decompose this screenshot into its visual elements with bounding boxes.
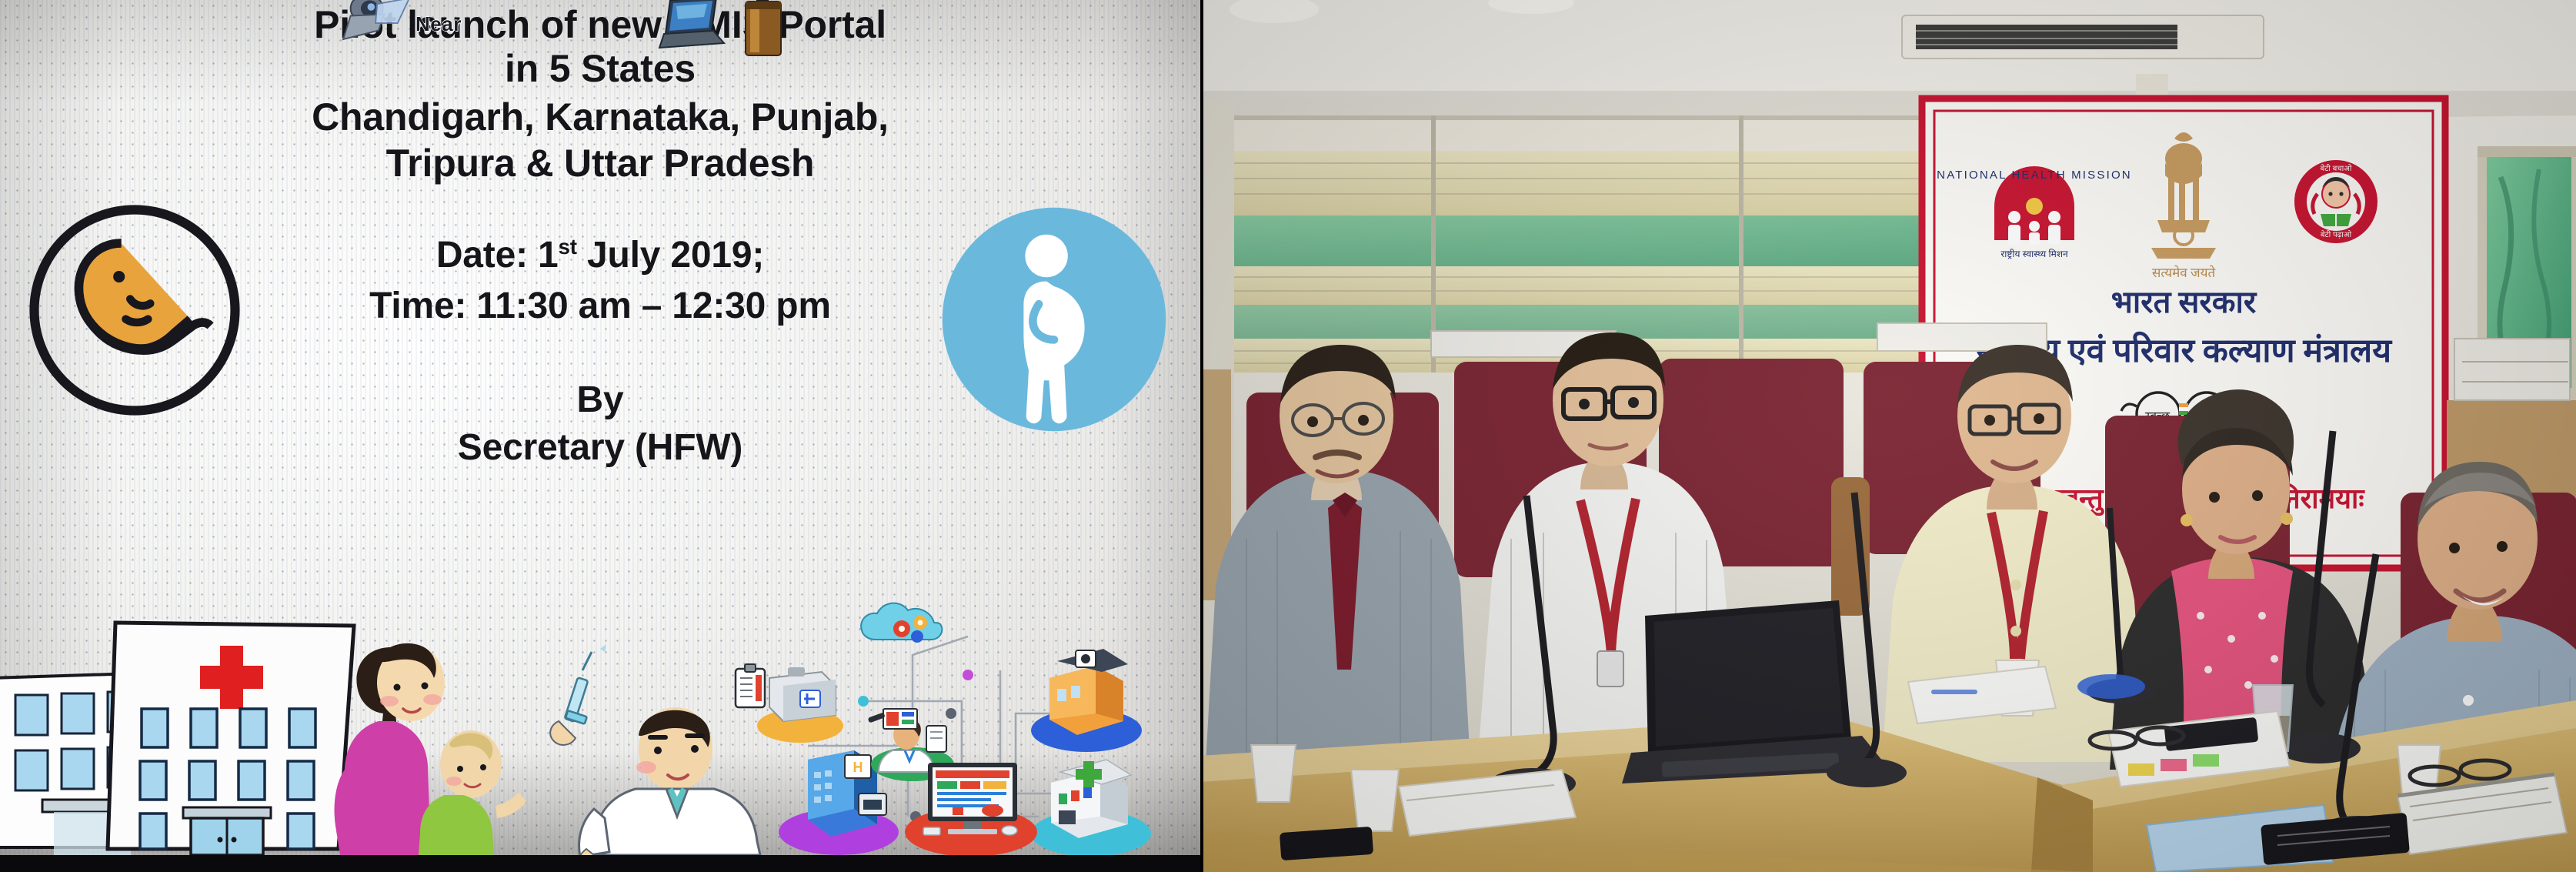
tricolor-white: [2179, 407, 2188, 411]
health-it-network-illustration: H: [736, 603, 1151, 855]
slide-illustration: H: [0, 563, 1200, 855]
tricolor-saffron: [2179, 403, 2188, 407]
svg-text:H: H: [853, 760, 863, 775]
screenshot-root: Near Pilot launch of new HMIS Portal in …: [0, 0, 2576, 872]
slide-time-line: Time: 11:30 am – 12:30 pm: [254, 281, 946, 332]
sticky-note: [2128, 763, 2154, 776]
cloud-gears-icon: [861, 603, 942, 643]
slide-by-person: Secretary (HFW): [254, 424, 946, 472]
nhm-logo-sub: राष्ट्रीय स्वास्थ्य मिशन: [2000, 249, 2068, 259]
screen-bottom-edge: [0, 855, 1200, 872]
clinic-building-green-icon: [1031, 760, 1151, 855]
slide-states-line-2: Tripura & Uttar Pradesh: [254, 140, 946, 186]
mic-base: [1827, 758, 1907, 787]
slide-date-ordinal: st: [559, 235, 577, 259]
near-overlay-badge: Near: [332, 2, 509, 58]
earring: [2281, 513, 2293, 525]
conference-room-photo: NATIONAL HEALTH MISSION राष्ट्रीय स्वास्…: [1200, 0, 2576, 872]
slide-states-line-1: Chandigarh, Karnataka, Punjab,: [254, 94, 946, 140]
pregnant-woman-icon: [927, 192, 1181, 446]
slide-presenter: By Secretary (HFW): [254, 376, 946, 472]
sticky-note: [2161, 759, 2187, 771]
clipboard-icon: [736, 664, 765, 707]
clinic-building-orange-icon: [1031, 649, 1142, 752]
slide-schedule: Date: 1st July 2019; Time: 11:30 am – 12…: [254, 222, 946, 332]
sticky-note: [2193, 754, 2219, 767]
bbbp-bottom: बेटी पढ़ाओ: [2321, 230, 2352, 239]
battery-icon: [735, 0, 792, 60]
slide-by-label: By: [254, 376, 946, 424]
paper-cup: [1351, 770, 1399, 831]
near-label: Near: [415, 12, 462, 36]
conference-room-scene: NATIONAL HEALTH MISSION राष्ट्रीय स्वास्…: [1200, 0, 2576, 872]
slide-text-block: Pilot launch of new HMIS Portal in 5 Sta…: [254, 3, 946, 472]
id-badge: [1597, 651, 1623, 687]
medical-kit-icon: [757, 667, 843, 743]
syringe-icon: [565, 644, 606, 724]
slide-date-prefix: Date: 1: [436, 235, 559, 276]
mouse-pad: [2077, 674, 2145, 699]
hospital-building-icon: [108, 623, 354, 855]
slide-states: Chandigarh, Karnataka, Punjab, Tripura &…: [254, 94, 946, 186]
fetus-icon: [23, 199, 246, 422]
webcam-icon: [332, 0, 422, 57]
nhm-logo-text: NATIONAL HEALTH MISSION: [1937, 169, 2132, 182]
bbbp-top: बेटी बचाओ: [2321, 164, 2353, 173]
earring: [2181, 514, 2193, 526]
mother-and-child-illustration: [335, 643, 526, 855]
slide-date-line: Date: 1st July 2019;: [254, 222, 946, 281]
bbbp-logo-icon: बेटी बचाओ बेटी पढ़ाओ: [2294, 160, 2377, 243]
doctor-with-syringe-illustration: [550, 644, 760, 855]
banner-line-gov: भारत सरकार: [2111, 285, 2257, 319]
pane-divider: [1200, 0, 1203, 872]
paper-cup: [1251, 745, 1296, 802]
laptop-icon: [658, 0, 729, 52]
slide-date-suffix: July 2019;: [577, 235, 764, 276]
emblem-caption: सत्यमेव जयते: [2152, 265, 2216, 280]
projected-slide-pane: Near Pilot launch of new HMIS Portal in …: [0, 0, 1200, 872]
ac-vent-icon: [1902, 15, 2264, 58]
